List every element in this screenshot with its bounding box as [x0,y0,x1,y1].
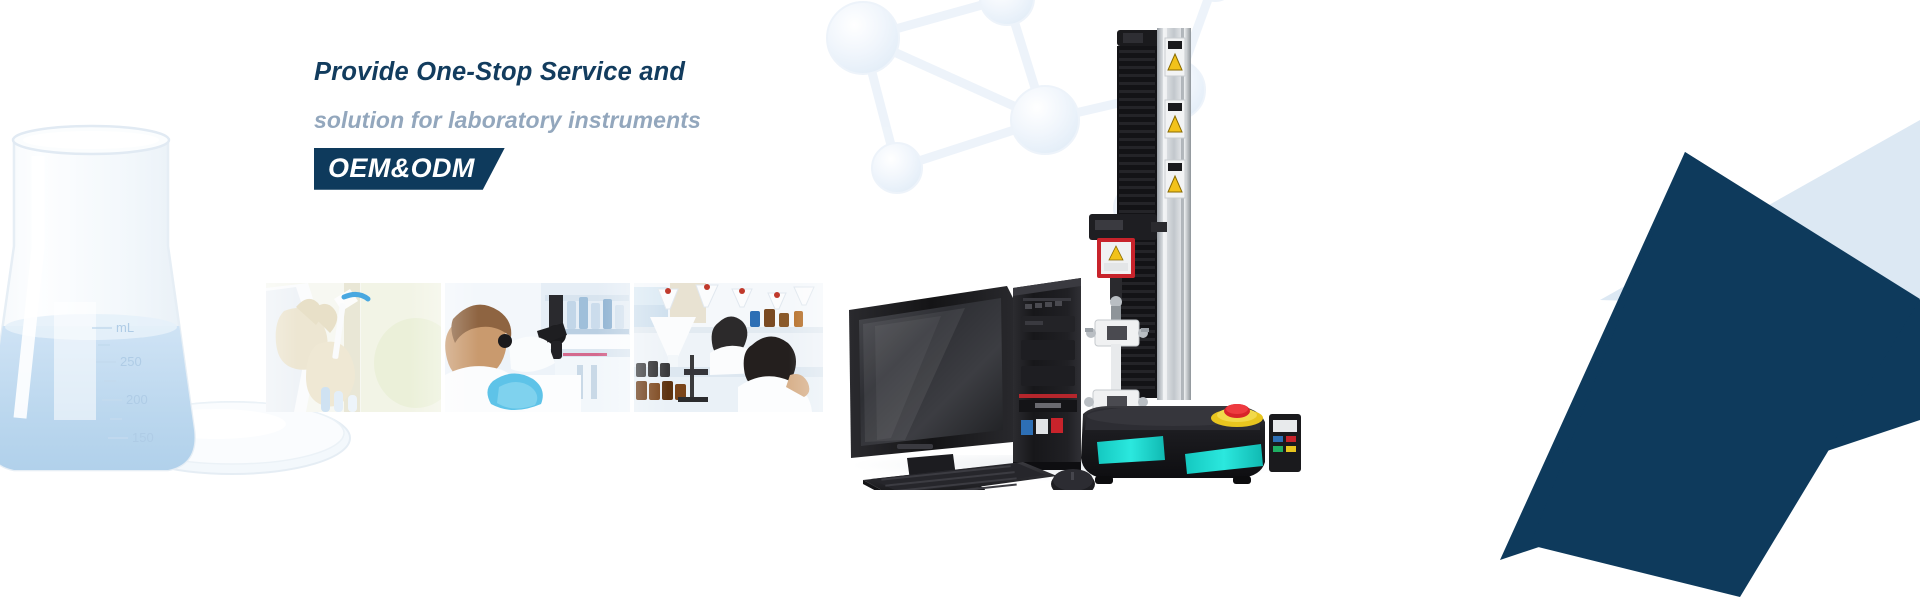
desktop-computer-tower [1013,278,1081,470]
svg-text:250: 250 [120,354,142,369]
product-cluster [845,10,1315,490]
tensile-testing-machine [1081,28,1301,484]
photo-lab-bench [634,283,823,412]
photo-strip [266,283,823,412]
oem-odm-badge-label: OEM&ODM [328,153,475,184]
svg-text:mL: mL [116,320,134,335]
light-blue-triangle-2 [1700,190,1920,345]
svg-text:200: 200 [126,392,148,407]
photo-microscope [445,283,630,412]
hero-banner: mL 250 200 150 Provide One-Stop Service … [0,0,1920,597]
oem-odm-badge: OEM&ODM [314,148,505,190]
navy-arrow-triangle [1500,152,1920,560]
svg-text:150: 150 [132,430,154,445]
photo-pipetting [266,283,441,412]
tower-accent-stripe [1019,394,1077,398]
lcd-monitor [849,286,1013,490]
navy-arrow-tail [1530,152,1920,597]
warning-label [1165,38,1185,198]
machine-base [1081,404,1301,484]
light-blue-triangle [1600,120,1920,310]
computer-keyboard [863,462,1057,490]
